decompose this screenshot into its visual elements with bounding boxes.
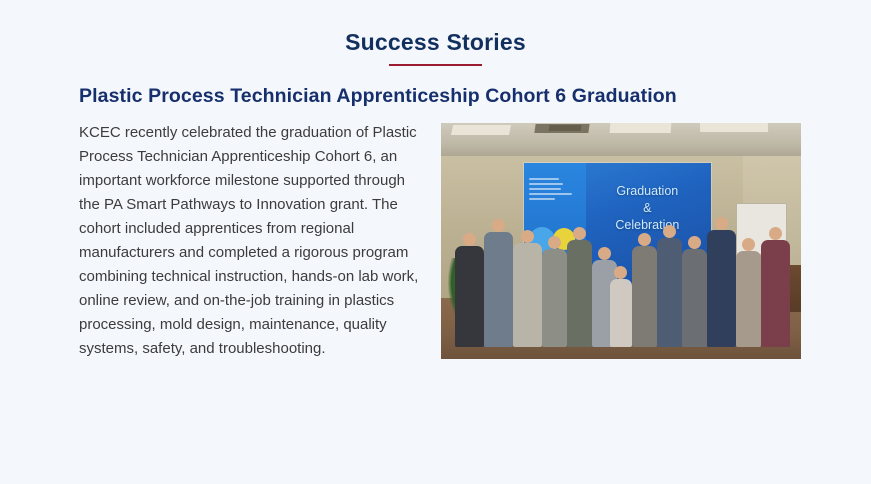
ceiling-tile: [534, 124, 589, 133]
ceiling-light-panel: [610, 123, 672, 133]
story-heading: Plastic Process Technician Apprenticeshi…: [79, 84, 704, 109]
photo-group-of-people: [441, 210, 801, 347]
title-underline-rule: [389, 64, 482, 66]
slide-title-lines: [529, 178, 578, 203]
page-title: Success Stories: [0, 28, 871, 56]
ceiling-tile: [451, 125, 511, 135]
slide-headline-line-1: Graduation: [591, 183, 703, 200]
story-article: Plastic Process Technician Apprenticeshi…: [79, 84, 801, 369]
cohort-6-graduation-group-photo: Graduation & Celebration: [441, 123, 801, 359]
section-title-block: Success Stories: [0, 28, 871, 66]
success-stories-page: Success Stories Plastic Process Technici…: [0, 0, 871, 484]
ceiling-light-panel: [700, 123, 769, 132]
